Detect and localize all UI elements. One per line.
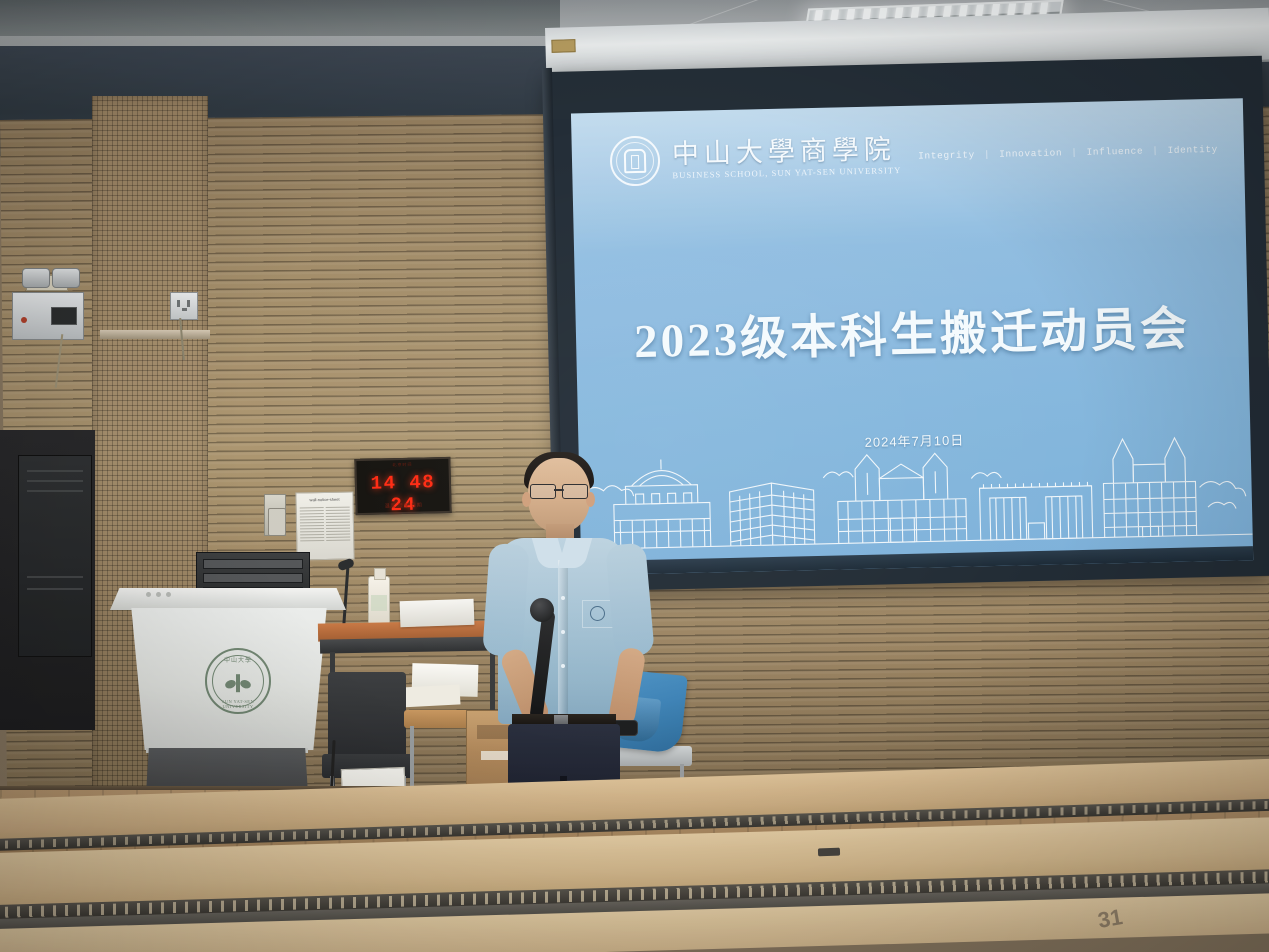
digital-wall-clock: 北京时间 14 48 24 温度 湿度 日期 [354,457,451,515]
slide-brand-cn: 中山大學商學院 [672,135,902,169]
wall-shelf [100,330,210,339]
emergency-light-icon [22,268,90,294]
lectern-front-panel: 中山大學 SUN YAT-SEN UNIVERSITY [118,608,340,750]
tagline-influence: Influence [1086,146,1143,158]
lectern-logo-cn: 中山大學 [207,655,269,664]
tagline-separator: | [1152,145,1159,156]
lecture-hall-photo: 中山大學商學院 BUSINESS SCHOOL, SUN YAT-SEN UNI… [0,0,1269,952]
glasses-icon [530,484,588,498]
ceiling-shadow [0,0,560,36]
tagline-innovation: Innovation [999,147,1062,159]
speaker-sleeve [605,542,655,657]
slide-title: 2023级本科生搬迁动员会 [575,288,1248,372]
tagline-separator: | [1071,147,1078,158]
hand-sanitizer-bottle [368,576,390,626]
tagline-identity: Identity [1167,144,1218,156]
slide-tagline: Integrity | Innovation | Influence | Ide… [918,144,1218,162]
shirt-emblem-icon [590,606,605,621]
lectern-top [110,588,346,610]
speaker-sleeve [482,543,530,658]
desk-clip [818,848,840,857]
seat-number-31: 31 [1096,904,1125,934]
wall-phone[interactable] [268,508,286,536]
notice-sheet: wall-notice-sheet [295,491,354,560]
tagline-integrity: Integrity [918,149,975,161]
power-socket[interactable] [170,292,198,320]
campus-skyline-graphic [578,406,1253,561]
tagline-separator: | [984,149,991,160]
clock-time: 14 48 24 [357,471,450,517]
sun-yat-sen-university-logo: 中山大學 SUN YAT-SEN UNIVERSITY [205,648,271,714]
university-seal-icon [609,135,660,186]
slide-brand-header: 中山大學商學院 BUSINESS SCHOOL, SUN YAT-SEN UNI… [609,130,901,187]
presentation-slide: 中山大學商學院 BUSINESS SCHOOL, SUN YAT-SEN UNI… [571,98,1253,575]
valance-plate [551,39,575,53]
emergency-light-housing [12,292,84,340]
stacked-papers [400,599,475,628]
clock-top-label: 北京时间 [356,461,448,469]
lectern-logo-en: SUN YAT-SEN UNIVERSITY [207,699,269,709]
lectern-controls[interactable] [146,592,171,597]
tree-emblem-icon [227,670,249,694]
equipment-cabinet [18,455,92,657]
